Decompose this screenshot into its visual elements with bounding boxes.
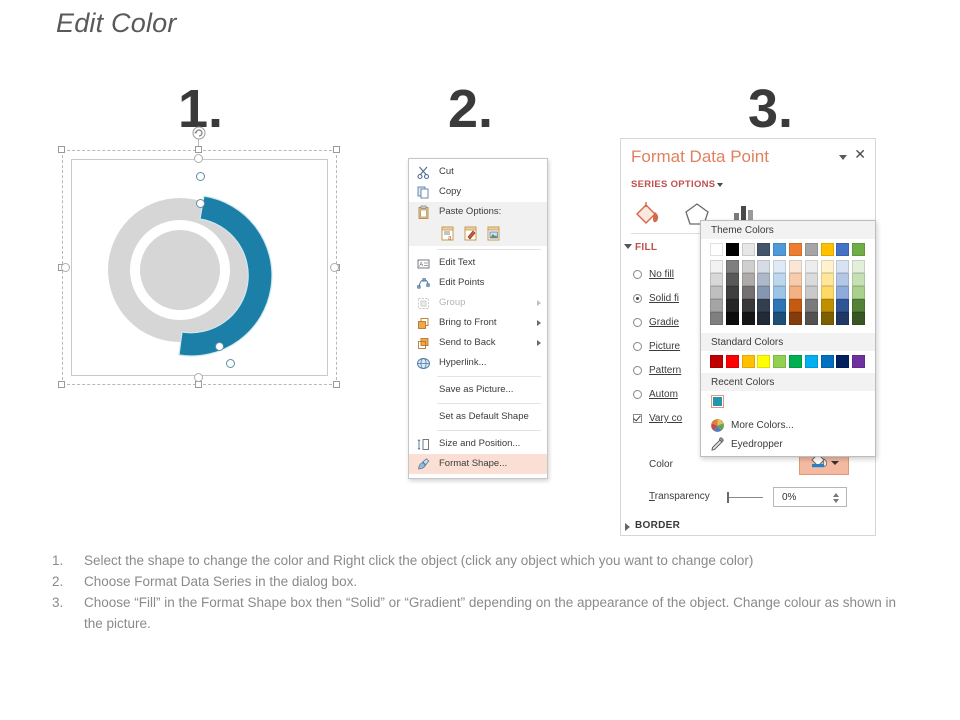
standard-color-swatch-9[interactable] <box>852 355 865 368</box>
theme-variant-swatch-4-3[interactable] <box>757 312 770 325</box>
menu-item-label: Format Shape... <box>439 458 507 469</box>
paste-formatting-icon[interactable] <box>462 224 479 244</box>
theme-variant-swatch-0-1[interactable] <box>726 260 739 273</box>
theme-variant-swatch-0-7[interactable] <box>821 260 834 273</box>
chevron-right-icon <box>537 300 541 306</box>
theme-variant-swatch-3-3[interactable] <box>757 299 770 312</box>
recent-color-swatch-0[interactable] <box>711 395 724 408</box>
pane-title: Format Data Point <box>631 147 769 167</box>
transparency-label: Transparency <box>649 491 710 502</box>
theme-variant-swatch-2-3[interactable] <box>757 286 770 299</box>
menu-item-send-to-back[interactable]: Send to Back <box>409 333 547 353</box>
menu-item-save-as-picture[interactable]: Save as Picture... <box>409 380 547 400</box>
theme-variant-swatch-3-2[interactable] <box>742 299 755 312</box>
recent-colors-row[interactable] <box>701 391 875 416</box>
menu-item-label: Set as Default Shape <box>439 411 529 422</box>
theme-color-swatch-4[interactable] <box>773 243 786 256</box>
standard-color-swatch-8[interactable] <box>836 355 849 368</box>
series-options-caret-icon[interactable] <box>717 183 723 187</box>
instructions-list: 1. Select the shape to change the color … <box>52 550 912 634</box>
menu-item-label: Group <box>439 297 465 308</box>
donut-chart[interactable] <box>62 150 337 385</box>
menu-item-group[interactable]: Group <box>409 293 547 313</box>
fill-option-solid-fill[interactable]: Solid fi <box>649 291 679 306</box>
theme-variant-swatch-4-1[interactable] <box>726 312 739 325</box>
context-menu[interactable]: Cut Copy Paste Options: <box>408 158 548 479</box>
theme-variant-swatch-4-0[interactable] <box>710 312 723 325</box>
eyedropper-label: Eyedropper <box>731 439 783 450</box>
standard-color-swatch-4[interactable] <box>773 355 786 368</box>
close-icon[interactable]: ✕ <box>854 147 866 161</box>
vary-colors-label: Vary co <box>649 413 682 424</box>
menu-separator <box>437 430 541 431</box>
menu-item-label: Send to Back <box>439 337 496 348</box>
series-options-label[interactable]: SERIES OPTIONS <box>631 179 715 190</box>
step-number-3: 3. <box>748 82 793 136</box>
instruction-item: 3. Choose “Fill” in the Format Shape box… <box>52 592 912 634</box>
step-number-2: 2. <box>448 82 493 136</box>
theme-variant-swatch-1-1[interactable] <box>726 273 739 286</box>
transparency-slider-track[interactable] <box>729 497 763 498</box>
instruction-text: Choose Format Data Series in the dialog … <box>84 571 912 592</box>
color-dropdown-caret-icon[interactable] <box>831 461 839 465</box>
fill-option-label: Gradie <box>649 317 679 328</box>
menu-item-paste-options[interactable]: Paste Options: <box>409 202 547 222</box>
theme-color-swatch-3[interactable] <box>757 243 770 256</box>
standard-colors-grid[interactable] <box>701 351 868 373</box>
color-dropdown-panel[interactable]: Theme Colors Standard Colors Recent Colo… <box>700 220 876 457</box>
theme-variant-swatch-0-3[interactable] <box>757 260 770 273</box>
theme-variant-swatch-2-1[interactable] <box>726 286 739 299</box>
instruction-text: Select the shape to change the color and… <box>84 550 912 571</box>
fill-option-label: Autom <box>649 389 678 400</box>
radio-icon[interactable] <box>633 390 642 399</box>
theme-variant-swatch-1-7[interactable] <box>821 273 834 286</box>
instruction-text: Choose “Fill” in the Format Shape box th… <box>84 592 912 634</box>
paste-options-row[interactable]: a <box>409 222 547 246</box>
format-shape-icon <box>416 457 431 472</box>
radio-icon[interactable] <box>633 366 642 375</box>
standard-color-swatch-1[interactable] <box>726 355 739 368</box>
theme-variant-swatch-2-6[interactable] <box>805 286 818 299</box>
theme-color-swatch-0[interactable] <box>710 243 723 256</box>
eyedropper-item[interactable]: Eyedropper <box>701 435 875 454</box>
size-position-icon <box>416 437 431 452</box>
theme-color-swatch-8[interactable] <box>836 243 849 256</box>
copy-icon <box>416 185 431 200</box>
fill-option-pattern-fill[interactable]: Pattern <box>649 363 681 378</box>
radio-icon[interactable] <box>633 294 642 303</box>
menu-item-label: Hyperlink... <box>439 357 487 368</box>
theme-variant-swatch-2-5[interactable] <box>789 286 802 299</box>
border-expand-triangle-icon[interactable] <box>625 523 630 531</box>
menu-item-edit-text[interactable]: A Edit Text <box>409 253 547 273</box>
menu-item-label: Paste Options: <box>439 206 501 217</box>
edit-points-icon <box>416 276 431 291</box>
menu-item-label: Save as Picture... <box>439 384 513 395</box>
instruction-number: 2. <box>52 571 84 592</box>
standard-color-swatch-7[interactable] <box>821 355 834 368</box>
fill-option-automatic[interactable]: Autom <box>649 387 678 402</box>
theme-variant-swatch-2-7[interactable] <box>821 286 834 299</box>
theme-variant-swatch-4-6[interactable] <box>805 312 818 325</box>
instruction-item: 2. Choose Format Data Series in the dial… <box>52 571 912 592</box>
radio-icon[interactable] <box>633 270 642 279</box>
theme-variant-swatch-3-7[interactable] <box>821 299 834 312</box>
donut-chart-svg[interactable] <box>62 150 337 385</box>
theme-variant-swatch-0-2[interactable] <box>742 260 755 273</box>
paste-keep-text-icon[interactable]: a <box>439 224 456 244</box>
theme-variant-swatch-4-5[interactable] <box>789 312 802 325</box>
theme-variant-swatch-3-5[interactable] <box>789 299 802 312</box>
fill-section-heading[interactable]: FILL <box>635 242 657 253</box>
theme-variant-swatch-3-4[interactable] <box>773 299 786 312</box>
fill-option-picture-fill[interactable]: Picture <box>649 339 680 354</box>
standard-color-swatch-6[interactable] <box>805 355 818 368</box>
chevron-right-icon <box>537 320 541 326</box>
menu-item-edit-points[interactable]: Edit Points <box>409 273 547 293</box>
menu-item-label: Cut <box>439 166 454 177</box>
theme-variant-swatch-4-8[interactable] <box>836 312 849 325</box>
menu-separator <box>437 376 541 377</box>
color-row-label: Color <box>649 459 673 470</box>
datapoint-handle-bottom[interactable] <box>226 359 235 368</box>
checkbox-icon[interactable] <box>633 414 642 423</box>
theme-color-swatch-7[interactable] <box>821 243 834 256</box>
page-title: Edit Color <box>56 8 177 39</box>
theme-variant-swatch-1-3[interactable] <box>757 273 770 286</box>
fill-bucket-icon[interactable] <box>633 199 663 232</box>
clipboard-icon <box>416 205 431 220</box>
theme-color-swatch-9[interactable] <box>852 243 865 256</box>
pane-dropdown-caret-icon[interactable] <box>839 155 847 160</box>
theme-variant-swatch-3-6[interactable] <box>805 299 818 312</box>
theme-color-swatch-1[interactable] <box>726 243 739 256</box>
transparency-label-text: ransparency <box>655 491 710 502</box>
theme-variant-swatch-0-8[interactable] <box>836 260 849 273</box>
theme-variant-swatch-4-9[interactable] <box>852 312 865 325</box>
theme-variant-swatch-0-5[interactable] <box>789 260 802 273</box>
radio-icon[interactable] <box>633 342 642 351</box>
theme-color-swatch-2[interactable] <box>742 243 755 256</box>
theme-variant-swatch-4-4[interactable] <box>773 312 786 325</box>
theme-variant-swatch-1-2[interactable] <box>742 273 755 286</box>
menu-item-hyperlink[interactable]: Hyperlink... <box>409 353 547 373</box>
more-colors-label: More Colors... <box>731 420 794 431</box>
theme-variant-swatch-1-8[interactable] <box>836 273 849 286</box>
menu-item-format-shape[interactable]: Format Shape... <box>409 454 547 474</box>
theme-variant-swatch-2-8[interactable] <box>836 286 849 299</box>
theme-variant-swatch-1-4[interactable] <box>773 273 786 286</box>
svg-text:A: A <box>419 263 423 269</box>
datapoint-handle-top-inner[interactable] <box>196 199 205 208</box>
chevron-right-icon <box>537 340 541 346</box>
rotate-handle-icon[interactable] <box>192 126 206 140</box>
recent-colors-heading: Recent Colors <box>701 373 875 391</box>
fill-option-gradient-fill[interactable]: Gradie <box>649 315 679 330</box>
theme-variant-swatch-3-0[interactable] <box>710 299 723 312</box>
standard-color-swatch-5[interactable] <box>789 355 802 368</box>
theme-variant-swatch-4-2[interactable] <box>742 312 755 325</box>
theme-variant-swatch-1-5[interactable] <box>789 273 802 286</box>
theme-color-swatch-5[interactable] <box>789 243 802 256</box>
fill-option-label: Solid fi <box>649 293 679 304</box>
border-section-heading[interactable]: BORDER <box>635 520 680 531</box>
theme-color-swatch-6[interactable] <box>805 243 818 256</box>
theme-variant-swatch-3-1[interactable] <box>726 299 739 312</box>
theme-variant-swatch-3-8[interactable] <box>836 299 849 312</box>
theme-variant-swatch-2-0[interactable] <box>710 286 723 299</box>
datapoint-handle-bottom-inner[interactable] <box>215 342 224 351</box>
color-wheel-icon <box>710 418 725 433</box>
hyperlink-icon <box>416 356 431 371</box>
fill-option-label: No fill <box>649 269 674 280</box>
menu-separator <box>437 249 541 250</box>
datapoint-handle-top[interactable] <box>196 172 205 181</box>
theme-variant-swatch-3-9[interactable] <box>852 299 865 312</box>
theme-colors-heading: Theme Colors <box>701 221 875 239</box>
theme-variant-swatch-0-0[interactable] <box>710 260 723 273</box>
menu-item-size-and-position[interactable]: Size and Position... <box>409 434 547 454</box>
menu-item-label: Size and Position... <box>439 438 520 449</box>
instruction-number: 1. <box>52 550 84 571</box>
menu-item-bring-to-front[interactable]: Bring to Front <box>409 313 547 333</box>
transparency-value-field[interactable]: 0% <box>773 487 847 507</box>
transparency-slider-thumb[interactable] <box>727 492 729 503</box>
edit-text-icon: A <box>416 256 431 271</box>
instruction-item: 1. Select the shape to change the color … <box>52 550 912 571</box>
menu-item-label: Bring to Front <box>439 317 497 328</box>
standard-color-swatch-2[interactable] <box>742 355 755 368</box>
menu-separator <box>437 403 541 404</box>
theme-variant-swatch-0-4[interactable] <box>773 260 786 273</box>
fill-expand-triangle-icon[interactable] <box>624 244 632 249</box>
theme-variant-swatch-1-9[interactable] <box>852 273 865 286</box>
fill-option-no-fill[interactable]: No fill <box>649 267 674 282</box>
fill-option-label: Pattern <box>649 365 681 376</box>
bring-front-icon <box>416 316 431 331</box>
standard-colors-heading: Standard Colors <box>701 333 875 351</box>
scissors-icon <box>416 165 431 180</box>
theme-variant-swatch-2-2[interactable] <box>742 286 755 299</box>
menu-item-label: Edit Points <box>439 277 484 288</box>
fill-option-label: Picture <box>649 341 680 352</box>
group-icon <box>416 296 431 311</box>
theme-variant-swatch-1-0[interactable] <box>710 273 723 286</box>
theme-variant-swatch-1-6[interactable] <box>805 273 818 286</box>
menu-item-cut[interactable]: Cut <box>409 162 547 182</box>
theme-variant-swatch-2-9[interactable] <box>852 286 865 299</box>
eyedropper-icon <box>710 437 725 452</box>
menu-item-label: Copy <box>439 186 461 197</box>
more-colors-item[interactable]: More Colors... <box>701 416 875 435</box>
send-back-icon <box>416 336 431 351</box>
theme-variant-swatch-0-6[interactable] <box>805 260 818 273</box>
paste-picture-icon[interactable] <box>485 224 502 244</box>
transparency-value: 0% <box>782 492 796 503</box>
standard-color-swatch-3[interactable] <box>757 355 770 368</box>
theme-variant-swatch-0-9[interactable] <box>852 260 865 273</box>
transparency-stepper[interactable] <box>832 491 840 505</box>
theme-variant-swatch-4-7[interactable] <box>821 312 834 325</box>
standard-color-swatch-0[interactable] <box>710 355 723 368</box>
theme-colors-grid[interactable] <box>701 239 868 333</box>
vary-colors-checkbox-row[interactable]: Vary co <box>649 411 682 426</box>
instruction-number: 3. <box>52 592 84 634</box>
radio-icon[interactable] <box>633 318 642 327</box>
menu-item-copy[interactable]: Copy <box>409 182 547 202</box>
theme-variant-swatch-2-4[interactable] <box>773 286 786 299</box>
menu-item-label: Edit Text <box>439 257 475 268</box>
menu-item-set-default-shape[interactable]: Set as Default Shape <box>409 407 547 427</box>
